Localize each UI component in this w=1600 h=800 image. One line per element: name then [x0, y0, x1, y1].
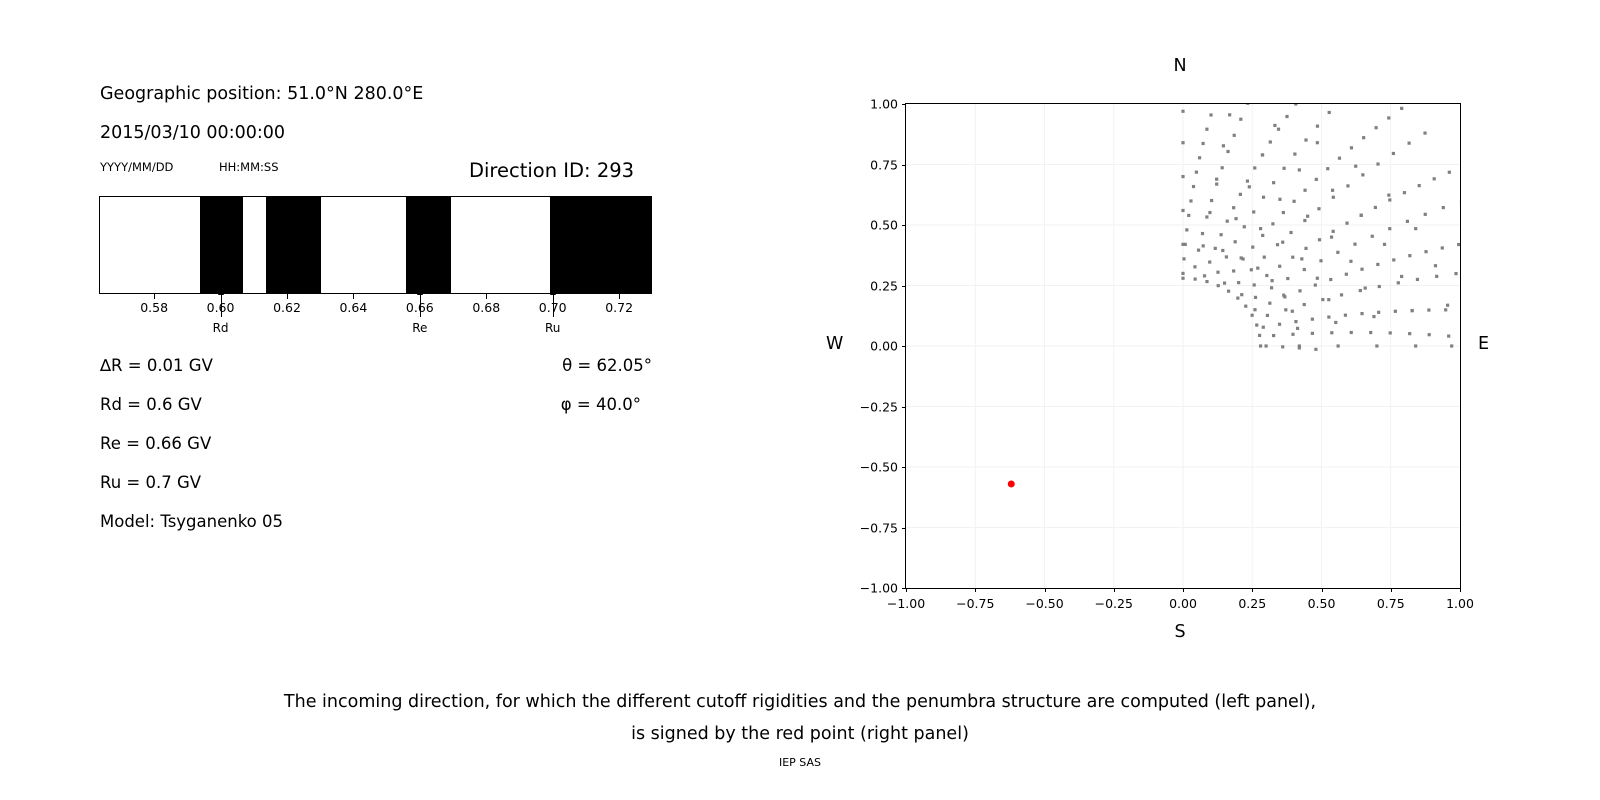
scatter-point: [1298, 289, 1301, 292]
scatter-point: [1376, 263, 1379, 266]
scatter-point: [1397, 281, 1400, 284]
scatter-point: [1400, 107, 1403, 110]
scatter-point: [1222, 144, 1225, 147]
scatter-point: [1291, 256, 1294, 259]
scatter-point: [1252, 210, 1255, 213]
y-axis-tick-label: −1.00: [860, 581, 898, 596]
scatter-point: [1316, 277, 1319, 280]
y-axis-tick: [902, 225, 906, 226]
scatter-point: [1259, 344, 1262, 347]
scatter-point: [1281, 241, 1284, 244]
angle-row: φ = 40.0°: [551, 395, 641, 414]
scatter-point: [1448, 171, 1451, 174]
scatter-point: [1205, 280, 1208, 283]
marker-label: Re: [412, 321, 427, 335]
arrow-up-icon: [550, 288, 556, 295]
scatter-point: [1214, 247, 1217, 250]
scatter-point: [1244, 305, 1247, 308]
scatter-point: [1239, 193, 1242, 196]
scatter-point: [1261, 153, 1264, 156]
scatter-point: [1354, 165, 1357, 168]
x-axis-tick-label: 1.00: [1446, 596, 1474, 611]
scatter-point: [1433, 177, 1436, 180]
scatter-point: [1208, 260, 1211, 263]
scatter-point: [1197, 249, 1200, 252]
x-axis-tick-label: 0.75: [1377, 596, 1405, 611]
x-axis-tick: [975, 588, 976, 592]
scatter-point: [1330, 236, 1333, 239]
y-axis-tick: [902, 104, 906, 105]
scatter-point: [1316, 125, 1319, 128]
scatter-point: [1317, 207, 1320, 210]
scatter-point: [1327, 298, 1330, 301]
scatter-point: [1321, 298, 1324, 301]
scatter-point: [1226, 150, 1229, 153]
scatter-point: [1387, 194, 1390, 197]
scatter-point: [1394, 310, 1397, 313]
scatter-point: [1392, 258, 1395, 261]
geographic-position-label: Geographic position: 51.0°N 280.0°E: [100, 84, 423, 104]
scatter-point: [1304, 247, 1307, 250]
scatter-point: [1276, 243, 1279, 246]
scatter-point: [1246, 180, 1249, 183]
scatter-point: [1326, 167, 1329, 170]
scatter-point: [1205, 128, 1208, 131]
scatter-point: [1314, 283, 1317, 286]
scatter-point: [1258, 334, 1261, 337]
scatter-point: [1278, 323, 1281, 326]
arrow-up-icon: [218, 288, 224, 295]
scatter-point: [1181, 175, 1184, 178]
scatter-point: [1300, 257, 1303, 260]
scatter-point: [1236, 296, 1239, 299]
penumbra-axis-tick-label: 0.64: [339, 300, 367, 315]
scatter-point: [1427, 308, 1430, 311]
scatter-point: [1329, 278, 1332, 281]
scatter-point: [1424, 250, 1427, 253]
scatter-point: [1327, 315, 1330, 318]
scatter-point: [1205, 215, 1208, 218]
scatter-point: [1336, 251, 1339, 254]
y-axis-tick: [902, 346, 906, 347]
scatter-point: [1283, 295, 1286, 298]
scatter-point: [1227, 290, 1230, 293]
scatter-point: [1281, 345, 1284, 348]
scatter-point: [1234, 217, 1237, 220]
penumbra-axis-tick: [486, 294, 487, 299]
scatter-point: [1233, 134, 1236, 137]
scatter-point: [1181, 110, 1184, 113]
penumbra-axis-tick: [287, 294, 288, 299]
scatter-point: [1360, 268, 1363, 271]
y-axis-tick: [902, 467, 906, 468]
scatter-point: [1187, 214, 1190, 217]
compass-north-label: N: [1173, 56, 1186, 76]
scatter-point: [1221, 249, 1224, 252]
x-axis-tick-label: −0.50: [1025, 596, 1063, 611]
y-axis-tick-label: 0.25: [870, 278, 898, 293]
scatter-point: [1344, 314, 1347, 317]
scatter-point: [1283, 167, 1286, 170]
scatter-point: [1253, 308, 1256, 311]
scatter-point: [1350, 146, 1353, 149]
scatter-point: [1345, 222, 1348, 225]
scatter-point: [1345, 273, 1348, 276]
scatter-point: [1226, 220, 1229, 223]
datetime-label: 2015/03/10 00:00:00: [100, 123, 285, 143]
penumbra-axis-tick: [154, 294, 155, 299]
penumbra-marker-re: Re: [420, 283, 421, 317]
scatter-point: [1331, 189, 1334, 192]
scatter-point: [1243, 225, 1246, 228]
scatter-point: [1208, 211, 1211, 214]
scatter-point: [1210, 199, 1213, 202]
y-axis-tick-label: 0.75: [870, 157, 898, 172]
scatter-point: [1446, 304, 1449, 307]
scatter-point: [1251, 314, 1254, 317]
scatter-point: [1194, 277, 1197, 280]
scatter-point: [1359, 289, 1362, 292]
scatter-point: [1392, 152, 1395, 155]
scatter-point: [1220, 233, 1223, 236]
scatter-point: [1303, 268, 1306, 271]
scatter-point: [1271, 222, 1274, 225]
scatter-point: [1303, 189, 1306, 192]
y-axis-tick: [902, 407, 906, 408]
scatter-point: [1262, 196, 1265, 199]
scatter-point: [1377, 311, 1380, 314]
scatter-point: [1195, 171, 1198, 174]
x-axis-tick-label: 0.00: [1169, 596, 1197, 611]
scatter-point: [1423, 131, 1426, 134]
penumbra-marker-rd: Rd: [221, 283, 222, 317]
scatter-point: [1272, 334, 1275, 337]
selected-direction-point[interactable]: [1008, 480, 1015, 487]
scatter-point: [1414, 227, 1417, 230]
x-axis-tick-label: −1.00: [887, 596, 925, 611]
result-row: Rd = 0.6 GV: [100, 395, 202, 414]
x-axis-tick: [1391, 588, 1392, 592]
scatter-point: [1314, 348, 1317, 351]
scatter-point: [1181, 272, 1184, 275]
scatter-point: [1278, 265, 1281, 268]
scatter-point: [1223, 282, 1226, 285]
y-axis-tick-label: 1.00: [870, 97, 898, 112]
scatter-point: [1256, 267, 1259, 270]
scatter-point: [1435, 275, 1438, 278]
scatter-point: [1253, 283, 1256, 286]
scatter-point: [1216, 271, 1219, 274]
y-axis-tick-label: −0.25: [860, 399, 898, 414]
scatter-point: [1293, 152, 1296, 155]
scatter-point: [1457, 243, 1460, 246]
sky-map-scatter: [906, 104, 1460, 588]
scatter-point: [1271, 279, 1274, 282]
penumbra-axis-tick: [619, 294, 620, 299]
scatter-point: [1304, 138, 1307, 141]
scatter-point: [1241, 257, 1244, 260]
caption-line-1: The incoming direction, for which the di…: [0, 686, 1600, 718]
penumbra-band-forbidden: [200, 197, 243, 293]
penumbra-band-forbidden: [266, 197, 321, 293]
scatter-point: [1189, 199, 1192, 202]
scatter-point: [1375, 344, 1378, 347]
scatter-point: [1416, 278, 1419, 281]
scatter-point: [1201, 232, 1204, 235]
penumbra-panel: Geographic position: 51.0°N 280.0°E 2015…: [0, 0, 760, 640]
scatter-point: [1338, 157, 1341, 160]
scatter-point: [1328, 111, 1331, 114]
result-row: Ru = 0.7 GV: [100, 473, 201, 492]
scatter-point: [1265, 344, 1268, 347]
penumbra-band-forbidden: [406, 197, 451, 293]
scatter-point: [1389, 331, 1392, 334]
scatter-point: [1181, 277, 1184, 280]
scatter-point: [1215, 178, 1218, 181]
y-axis-tick: [902, 528, 906, 529]
scatter-point: [1253, 166, 1256, 169]
scatter-point: [1311, 318, 1314, 321]
arrow-up-icon: [417, 288, 423, 295]
result-row: ∆R = 0.01 GV: [100, 356, 213, 375]
scatter-point: [1251, 246, 1254, 249]
scatter-point: [1303, 303, 1306, 306]
x-axis-tick: [1114, 588, 1115, 592]
scatter-point: [1400, 275, 1403, 278]
x-axis-tick: [1460, 588, 1461, 592]
scatter-point: [1369, 331, 1372, 334]
penumbra-bar: [99, 196, 652, 294]
scatter-point: [1450, 344, 1453, 347]
scatter-point: [1375, 126, 1378, 129]
scatter-point: [1298, 168, 1301, 171]
scatter-point: [1278, 198, 1281, 201]
scatter-point: [1337, 344, 1340, 347]
scatter-point: [1240, 293, 1243, 296]
x-axis-tick: [1183, 588, 1184, 592]
scatter-point: [1277, 128, 1280, 131]
scatter-point: [1262, 326, 1265, 329]
penumbra-band-forbidden: [550, 197, 652, 293]
compass-south-label: S: [1174, 622, 1185, 642]
scatter-point: [1434, 264, 1437, 267]
scatter-point: [1311, 332, 1314, 335]
scatter-point: [1182, 257, 1185, 260]
scatter-point: [1303, 219, 1306, 222]
direction-id-label: Direction ID: 293: [469, 159, 634, 182]
figure-caption: The incoming direction, for which the di…: [0, 686, 1600, 750]
scatter-point: [1319, 259, 1322, 262]
scatter-point: [1315, 178, 1318, 181]
scatter-point: [1285, 115, 1288, 118]
scatter-point: [1408, 332, 1411, 335]
scatter-point: [1294, 320, 1297, 323]
scatter-point: [1232, 269, 1235, 272]
scatter-point: [1185, 228, 1188, 231]
scatter-point: [1261, 234, 1264, 237]
scatter-point: [1306, 215, 1309, 218]
scatter-point: [1289, 231, 1292, 234]
scatter-point: [1273, 124, 1276, 127]
scatter-point: [1360, 214, 1363, 217]
scatter-point: [1447, 334, 1450, 337]
scatter-point: [1371, 235, 1374, 238]
scatter-point: [1346, 184, 1349, 187]
scatter-point: [1239, 118, 1242, 121]
scatter-point: [1408, 254, 1411, 257]
scatter-point: [1424, 213, 1427, 216]
date-format-hint: YYYY/MM/DD: [100, 160, 173, 174]
scatter-point: [1254, 296, 1257, 299]
scatter-point: [1228, 113, 1231, 116]
scatter-point: [1374, 206, 1377, 209]
scatter-point: [1217, 284, 1220, 287]
scatter-point: [1406, 220, 1409, 223]
scatter-point: [1454, 272, 1457, 275]
scatter-point: [1284, 308, 1287, 311]
scatter-point: [1388, 227, 1391, 230]
scatter-point: [1181, 141, 1184, 144]
scatter-point: [1291, 333, 1294, 336]
scatter-point: [1269, 140, 1272, 143]
scatter-point: [1292, 200, 1295, 203]
scatter-point: [1282, 211, 1285, 214]
scatter-point: [1383, 243, 1386, 246]
penumbra-axis-tick-label: 0.58: [140, 300, 168, 315]
scatter-point: [1442, 206, 1445, 209]
x-axis-tick: [906, 588, 907, 592]
scatter-point: [1318, 238, 1321, 241]
x-axis-tick-label: −0.25: [1095, 596, 1133, 611]
scatter-point: [1248, 185, 1251, 188]
scatter-point: [1414, 344, 1417, 347]
scatter-point: [1184, 243, 1187, 246]
footer-label: IEP SAS: [0, 756, 1600, 769]
y-axis-tick-label: 0.00: [870, 339, 898, 354]
x-axis-tick: [1252, 588, 1253, 592]
scatter-point: [1270, 286, 1273, 289]
marker-label: Rd: [213, 321, 229, 335]
scatter-point: [1215, 183, 1218, 186]
scatter-point: [1332, 230, 1335, 233]
x-axis-tick-label: −0.75: [956, 596, 994, 611]
result-row: Re = 0.66 GV: [100, 434, 211, 453]
x-axis-tick-label: 0.50: [1308, 596, 1336, 611]
scatter-point: [1441, 246, 1444, 249]
scatter-point: [1255, 323, 1258, 326]
penumbra-axis-tick-label: 0.62: [273, 300, 301, 315]
marker-label: Ru: [545, 321, 560, 335]
scatter-point: [1209, 113, 1212, 116]
scatter-point: [1330, 331, 1333, 334]
scatter-point: [1353, 243, 1356, 246]
scatter-point: [1192, 185, 1195, 188]
sky-map-plot-area: −1.00−0.75−0.50−0.250.000.250.500.751.00…: [905, 103, 1461, 589]
scatter-point: [1221, 166, 1224, 169]
penumbra-axis-tick: [353, 294, 354, 299]
scatter-point: [1291, 310, 1294, 313]
scatter-point: [1202, 244, 1205, 247]
time-format-hint: HH:MM:SS: [219, 160, 279, 174]
y-axis-tick-label: −0.75: [860, 520, 898, 535]
scatter-point: [1411, 309, 1414, 312]
angle-row: θ = 62.05°: [562, 356, 652, 375]
scatter-point: [1263, 256, 1266, 259]
scatter-point: [1298, 346, 1301, 349]
x-axis-tick: [1322, 588, 1323, 592]
scatter-point: [1198, 156, 1201, 159]
scatter-point: [1259, 227, 1262, 230]
scatter-point: [1268, 302, 1271, 305]
compass-west-label: W: [826, 334, 843, 354]
caption-line-2: is signed by the red point (right panel): [0, 718, 1600, 750]
scatter-point: [1316, 141, 1319, 144]
scatter-point: [1250, 268, 1253, 271]
sky-map-panel: N S W E −1.00−0.75−0.50−0.250.000.250.50…: [760, 0, 1600, 660]
scatter-point: [1428, 333, 1431, 336]
scatter-point: [1181, 209, 1184, 212]
scatter-point: [1193, 265, 1196, 268]
scatter-point: [1387, 116, 1390, 119]
scatter-point: [1349, 260, 1352, 263]
scatter-point: [1388, 198, 1391, 201]
scatter-point: [1332, 196, 1335, 199]
penumbra-axis-tick-label: 0.72: [605, 300, 633, 315]
scatter-point: [1232, 206, 1235, 209]
penumbra-bar-wrapper: [99, 196, 652, 294]
result-row: Model: Tsyganenko 05: [100, 512, 283, 531]
x-axis-tick: [1045, 588, 1046, 592]
scatter-point: [1362, 136, 1365, 139]
x-axis-tick-label: 0.25: [1238, 596, 1266, 611]
scatter-point: [1361, 173, 1364, 176]
scatter-point: [1408, 142, 1411, 145]
penumbra-axis-tick-label: 0.68: [472, 300, 500, 315]
y-axis-tick-label: −0.50: [860, 460, 898, 475]
scatter-point: [1234, 240, 1237, 243]
penumbra-marker-ru: Ru: [553, 283, 554, 317]
scatter-point: [1272, 181, 1275, 184]
scatter-point: [1378, 285, 1381, 288]
scatter-point: [1360, 312, 1363, 315]
scatter-point: [1376, 162, 1379, 165]
y-axis-tick: [902, 286, 906, 287]
scatter-point: [1294, 104, 1297, 106]
scatter-point: [1340, 293, 1343, 296]
scatter-point: [1201, 142, 1204, 145]
scatter-point: [1266, 314, 1269, 317]
scatter-point: [1444, 308, 1447, 311]
scatter-point: [1350, 331, 1353, 334]
scatter-point: [1334, 321, 1337, 324]
scatter-point: [1364, 286, 1367, 289]
scatter-point: [1286, 277, 1289, 280]
scatter-point: [1246, 104, 1249, 105]
scatter-point: [1372, 315, 1375, 318]
scatter-point: [1418, 184, 1421, 187]
compass-east-label: E: [1478, 334, 1489, 354]
scatter-point: [1237, 281, 1240, 284]
penumbra-axis: 0.580.600.620.640.660.680.700.72: [99, 294, 652, 308]
scatter-point: [1265, 274, 1268, 277]
y-axis-tick: [902, 165, 906, 166]
scatter-point: [1403, 191, 1406, 194]
y-axis-tick-label: 0.50: [870, 218, 898, 233]
scatter-point: [1296, 327, 1299, 330]
scatter-point: [1225, 255, 1228, 258]
scatter-point: [1203, 274, 1206, 277]
